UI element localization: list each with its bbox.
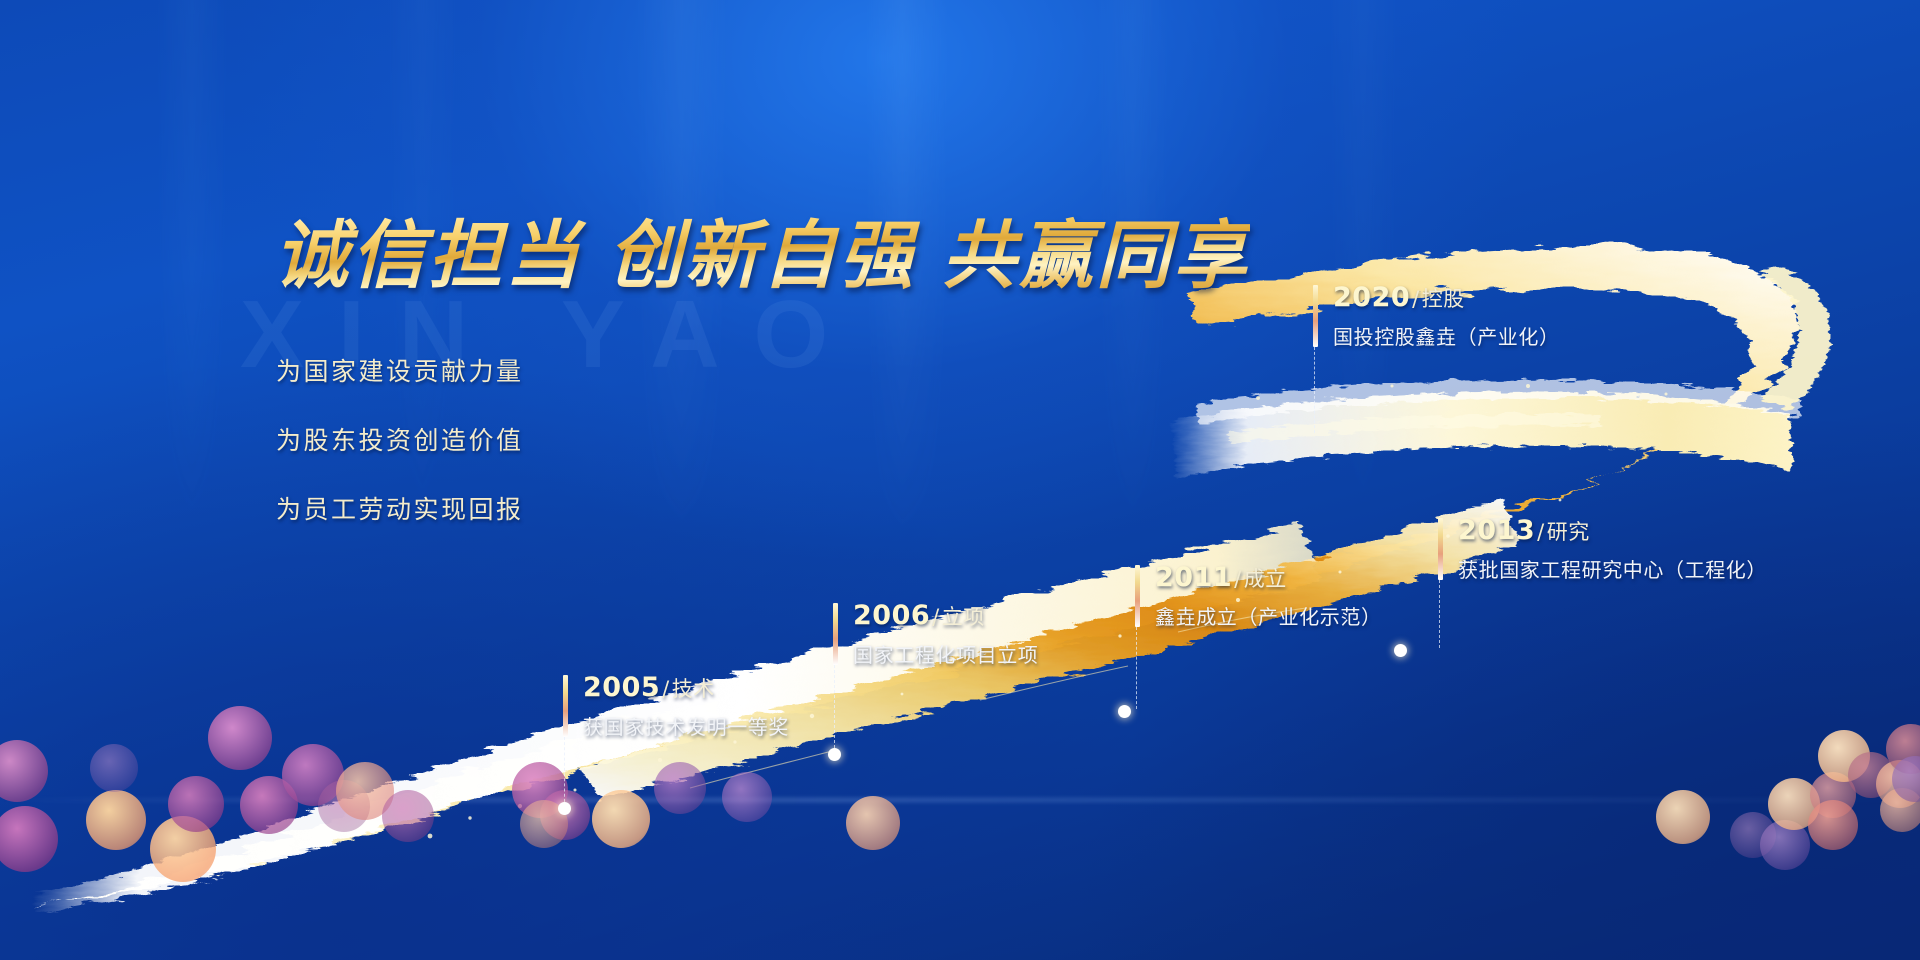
page-title: 诚信担当创新自强共赢同享 [274,196,1250,303]
timeline-marker-bar [1135,565,1140,627]
timeline-marker-bar [833,603,838,665]
timeline-year-value: 2005 [583,672,660,703]
timeline-separator: / [1410,287,1422,311]
timeline-description: 获国家技术发明一等奖 [583,711,789,740]
timeline-dot-2011 [1118,705,1131,718]
timeline-category: 立项 [942,605,985,629]
headline-part-1: 诚信担当 [274,213,582,299]
timeline-year-label: 2006/立项 [853,600,985,631]
timeline-year-value: 2006 [853,600,930,631]
timeline-year-label: 2011/成立 [1155,562,1287,593]
timeline-connector-2020 [1314,347,1315,433]
timeline-dot-2006 [828,748,841,761]
timeline-year-value: 2020 [1333,282,1410,313]
timeline-description: 国投控股鑫垚（产业化） [1333,321,1560,350]
slogan-line: 为员工劳动实现回报 [276,490,524,526]
timeline-separator: / [1232,567,1244,591]
slogan-list: 为国家建设贡献力量 为股东投资创造价值 为员工劳动实现回报 [276,352,524,559]
headline-part-3: 共赢同享 [942,213,1250,299]
timeline-year-value: 2011 [1155,562,1232,593]
timeline-marker-bar [1438,518,1443,580]
timeline-year-label: 2005/技术 [583,672,715,703]
timeline-year-label: 2013/研究 [1458,515,1590,546]
timeline-description: 国家工程化项目立项 [853,639,1038,668]
timeline-connector-2011 [1136,627,1137,709]
timeline-connector-2006 [834,665,835,753]
timeline-description: 鑫垚成立（产业化示范） [1155,601,1382,630]
slogan-line: 为股东投资创造价值 [276,421,524,457]
timeline-category: 成立 [1244,567,1287,591]
timeline-category: 研究 [1547,520,1590,544]
timeline-separator: / [1535,520,1547,544]
timeline-dot-2005 [558,802,571,815]
horizon-band-decoration [0,798,1920,802]
timeline-description: 获批国家工程研究中心（工程化） [1458,554,1767,583]
banner-canvas: XIN YAO [0,0,1920,960]
timeline-dot-2013 [1394,644,1407,657]
timeline-marker-bar [1313,285,1318,347]
timeline-separator: / [930,605,942,629]
headline-part-2: 创新自强 [608,213,916,299]
timeline-category: 控股 [1422,287,1465,311]
slogan-line: 为国家建设贡献力量 [276,352,524,388]
timeline-connector-2013 [1439,580,1440,648]
timeline-year-label: 2020/控股 [1333,282,1465,313]
timeline-connector-2005 [564,737,565,807]
timeline-category: 技术 [672,677,715,701]
timeline-separator: / [660,677,672,701]
timeline-marker-bar [563,675,568,737]
timeline-year-value: 2013 [1458,515,1535,546]
